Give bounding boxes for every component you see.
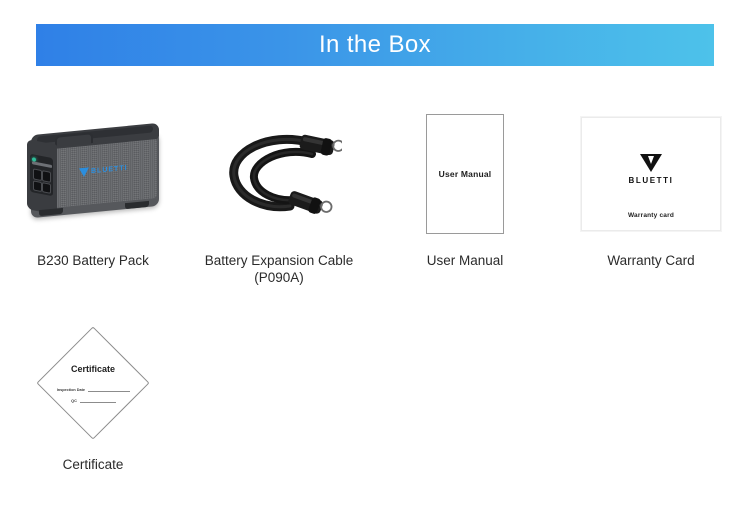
panel-label-strip: [32, 161, 52, 168]
item-user-manual: User Manual User Manual: [372, 110, 558, 269]
battery-pack-art: BLUETTI: [0, 110, 186, 238]
battery-port: [33, 168, 42, 181]
cable-connector-lower: [287, 189, 333, 219]
warranty-card-image: BLUETTI Warranty card: [581, 117, 721, 231]
item-caption-line-1: Battery Expansion Cable: [205, 253, 354, 268]
item-caption: Warranty Card: [607, 252, 694, 269]
user-manual-art: User Manual: [372, 110, 558, 238]
cable-drawing: [216, 118, 342, 230]
bluetti-triangle-icon: [79, 167, 89, 177]
battery-pack-image: BLUETTI: [17, 122, 169, 226]
item-caption-line-2: (P090A): [254, 270, 304, 285]
user-manual-cover-text: User Manual: [439, 169, 492, 179]
battery-port: [42, 182, 51, 194]
expansion-cable-art: [186, 110, 372, 238]
item-warranty-card: BLUETTI Warranty card Warranty Card: [558, 110, 744, 269]
bluetti-logo: BLUETTI: [629, 154, 674, 185]
battery-foot: [125, 201, 149, 209]
item-certificate: Certificate Inspection Date QC Certifica…: [0, 324, 186, 473]
item-b230-battery-pack: BLUETTI B230 Battery Pack: [0, 110, 186, 269]
warranty-card-art: BLUETTI Warranty card: [558, 110, 744, 238]
in-the-box-item-grid: BLUETTI B230 Battery Pack: [0, 110, 750, 473]
item-caption: B230 Battery Pack: [37, 252, 149, 269]
item-caption: User Manual: [427, 252, 504, 269]
user-manual-booklet: User Manual: [426, 114, 504, 234]
item-row-1: BLUETTI B230 Battery Pack: [0, 110, 750, 286]
certificate-art: Certificate Inspection Date QC: [0, 324, 186, 442]
battery-port: [42, 170, 51, 183]
item-caption: Certificate: [63, 456, 124, 473]
item-row-2: Certificate Inspection Date QC Certifica…: [0, 324, 750, 473]
expansion-cable-image: [216, 118, 342, 230]
certificate-diamond: Certificate Inspection Date QC: [38, 328, 148, 438]
item-battery-expansion-cable: Battery Expansion Cable(P090A): [186, 110, 372, 286]
in-the-box-banner: In the Box: [36, 24, 714, 66]
bluetti-triangle-icon: [640, 154, 662, 172]
battery-port-panel: [30, 154, 53, 196]
bluetti-wordmark: BLUETTI: [629, 176, 674, 185]
item-caption: Battery Expansion Cable(P090A): [205, 252, 354, 286]
battery-port: [33, 180, 42, 192]
page-title: In the Box: [319, 33, 431, 57]
warranty-card-footer-text: Warranty card: [582, 212, 720, 219]
certificate-diamond-shape: [36, 326, 149, 439]
